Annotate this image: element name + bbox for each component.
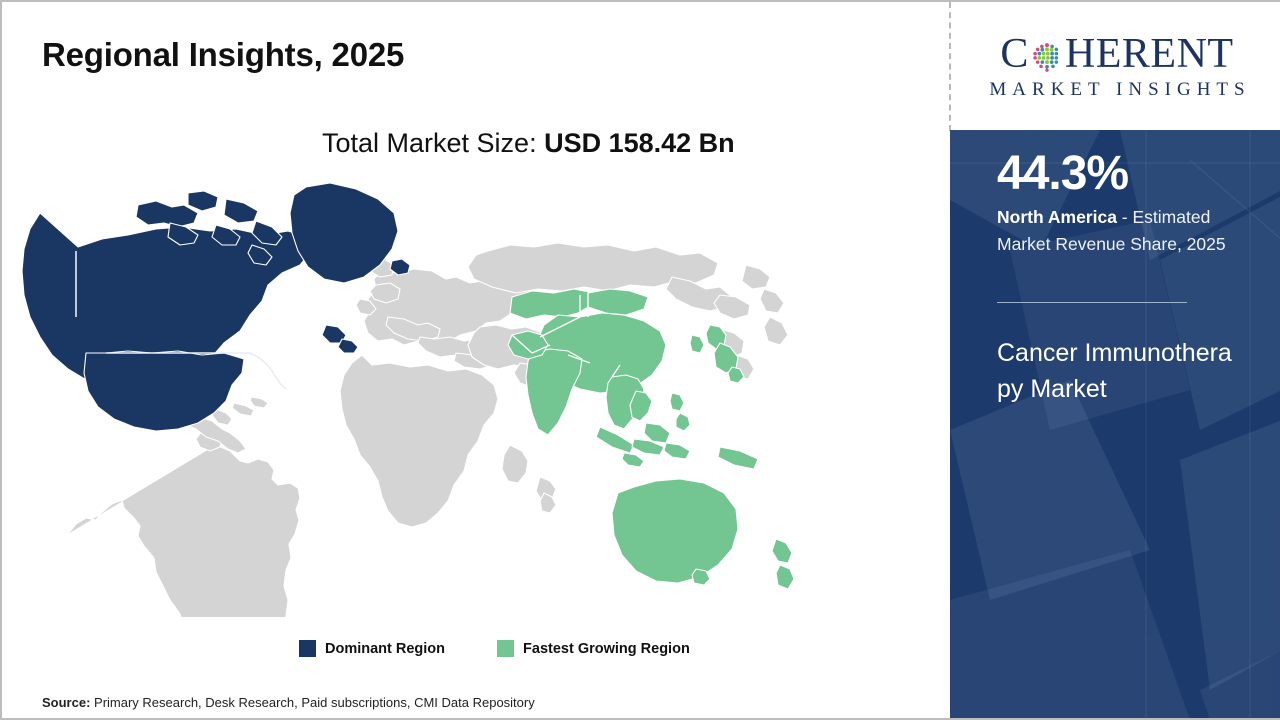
logo-word-herent: HERENT <box>1065 33 1234 75</box>
total-market-size: Total Market Size: USD 158.42 Bn <box>322 128 735 159</box>
legend-swatch-fastest-growing <box>497 640 514 657</box>
infographic-page: Regional Insights, 2025 Total Market Siz… <box>0 0 1280 720</box>
stat-panel-content: 44.3% North America - Estimated Market R… <box>950 130 1280 720</box>
market-size-value: USD 158.42 Bn <box>544 128 735 158</box>
map-legend: Dominant Region Fastest Growing Region <box>299 640 690 657</box>
market-size-label: Total Market Size: <box>322 128 544 158</box>
logo-letter-c: C <box>1000 33 1029 75</box>
source-label: Source: <box>42 695 90 710</box>
region-south-america <box>68 431 300 617</box>
left-content-pane: Regional Insights, 2025 Total Market Siz… <box>2 2 950 720</box>
logo-wordmark: C <box>1000 33 1233 75</box>
source-note: Source: Primary Research, Desk Research,… <box>42 695 535 710</box>
legend-swatch-dominant <box>299 640 316 657</box>
stat-percentage: 44.3% <box>997 150 1128 198</box>
region-asia-pacific-highlight <box>508 289 794 589</box>
legend-label-fastest-growing: Fastest Growing Region <box>523 641 690 657</box>
logo-tagline: MARKET INSIGHTS <box>983 79 1250 101</box>
report-title: Cancer Immunotherapy Market <box>997 336 1233 407</box>
stat-divider-rule <box>997 302 1187 303</box>
world-map-svg <box>20 177 840 617</box>
stat-description: North America - Estimated Market Revenue… <box>997 204 1247 258</box>
world-map <box>20 177 840 617</box>
page-title: Regional Insights, 2025 <box>42 36 404 74</box>
dotted-globe-icon <box>1030 40 1064 74</box>
stat-panel: 44.3% North America - Estimated Market R… <box>950 130 1280 720</box>
legend-item-dominant: Dominant Region <box>299 640 445 657</box>
vertical-divider <box>949 2 951 131</box>
stat-region-name: North America <box>997 207 1117 227</box>
legend-label-dominant: Dominant Region <box>325 641 445 657</box>
brand-logo: C <box>952 2 1280 131</box>
source-text: Primary Research, Desk Research, Paid su… <box>90 695 534 710</box>
legend-item-fastest-growing: Fastest Growing Region <box>497 640 690 657</box>
